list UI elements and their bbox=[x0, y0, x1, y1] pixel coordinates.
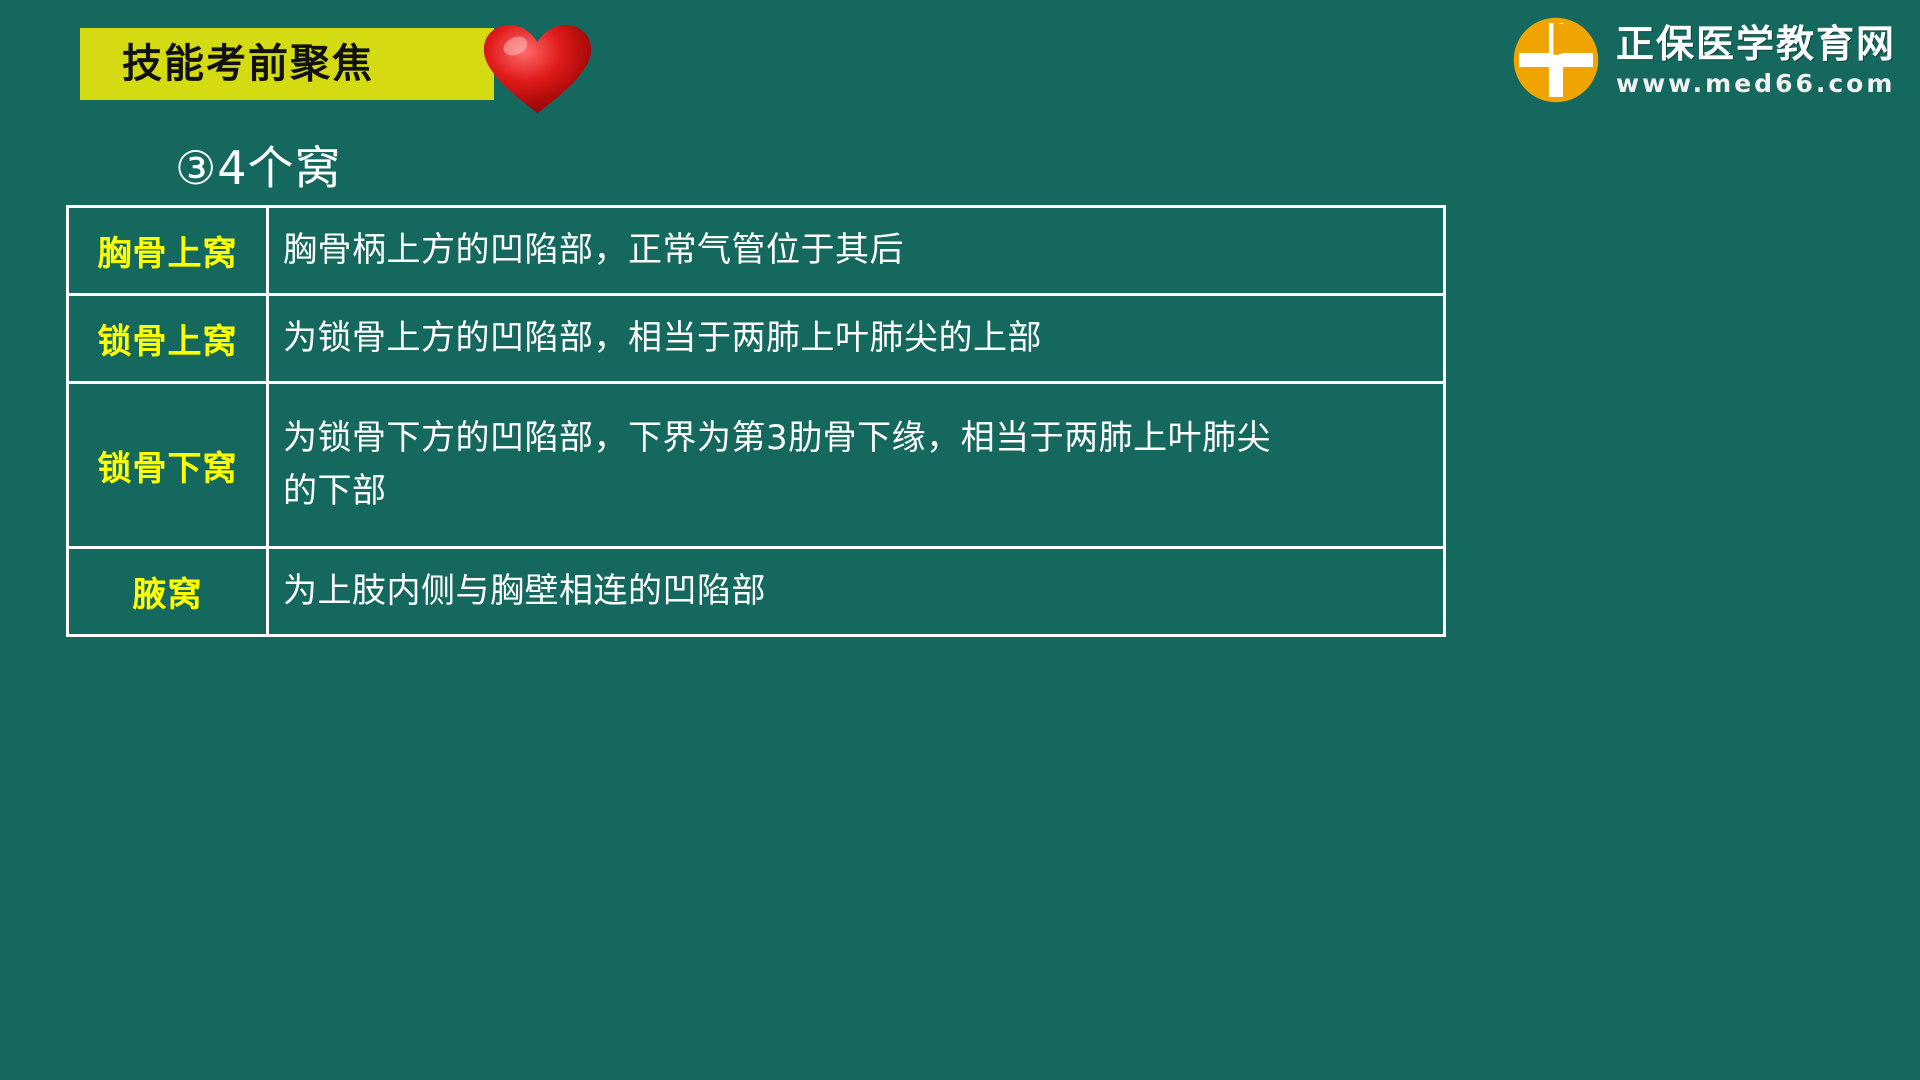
table-row: 锁骨下窝 为锁骨下方的凹陷部，下界为第3肋骨下缘，相当于两肺上叶肺尖 的下部 bbox=[68, 383, 1445, 548]
row-description: 胸骨柄上方的凹陷部，正常气管位于其后 bbox=[268, 207, 1445, 295]
banner-title: 技能考前聚焦 bbox=[122, 44, 374, 84]
heart-icon bbox=[480, 22, 595, 118]
slide-canvas: 技能考前聚焦 bbox=[0, 0, 1920, 1080]
fossa-table: 胸骨上窝 胸骨柄上方的凹陷部，正常气管位于其后 锁骨上窝 为锁骨上方的凹陷部，相… bbox=[66, 205, 1446, 637]
brand-logo: 正保医学教育网 www.med66.com bbox=[1512, 16, 1896, 104]
row-term: 锁骨下窝 bbox=[68, 383, 268, 548]
brand-url: www.med66.com bbox=[1616, 71, 1896, 96]
row-description: 为锁骨上方的凹陷部，相当于两肺上叶肺尖的上部 bbox=[268, 295, 1445, 383]
brand-text: 正保医学教育网 www.med66.com bbox=[1616, 25, 1896, 96]
row-description: 为上肢内侧与胸壁相连的凹陷部 bbox=[268, 548, 1445, 636]
description-line: 为上肢内侧与胸壁相连的凹陷部 bbox=[283, 565, 1429, 618]
row-term: 锁骨上窝 bbox=[68, 295, 268, 383]
title-banner: 技能考前聚焦 bbox=[80, 28, 494, 100]
brand-name: 正保医学教育网 bbox=[1616, 25, 1896, 63]
description-line: 为锁骨下方的凹陷部，下界为第3肋骨下缘，相当于两肺上叶肺尖 bbox=[283, 412, 1429, 465]
description-line: 胸骨柄上方的凹陷部，正常气管位于其后 bbox=[283, 224, 1429, 277]
row-description: 为锁骨下方的凹陷部，下界为第3肋骨下缘，相当于两肺上叶肺尖 的下部 bbox=[268, 383, 1445, 548]
table-row: 腋窝 为上肢内侧与胸壁相连的凹陷部 bbox=[68, 548, 1445, 636]
description-line: 为锁骨上方的凹陷部，相当于两肺上叶肺尖的上部 bbox=[283, 312, 1429, 365]
fossa-table-wrapper: 胸骨上窝 胸骨柄上方的凹陷部，正常气管位于其后 锁骨上窝 为锁骨上方的凹陷部，相… bbox=[66, 205, 1446, 637]
section-heading: ③4个窝 bbox=[175, 132, 342, 198]
row-term: 胸骨上窝 bbox=[68, 207, 268, 295]
table-row: 胸骨上窝 胸骨柄上方的凹陷部，正常气管位于其后 bbox=[68, 207, 1445, 295]
medical-cross-circle-icon bbox=[1512, 16, 1600, 104]
row-term: 腋窝 bbox=[68, 548, 268, 636]
description-line: 的下部 bbox=[283, 465, 1429, 518]
table-row: 锁骨上窝 为锁骨上方的凹陷部，相当于两肺上叶肺尖的上部 bbox=[68, 295, 1445, 383]
